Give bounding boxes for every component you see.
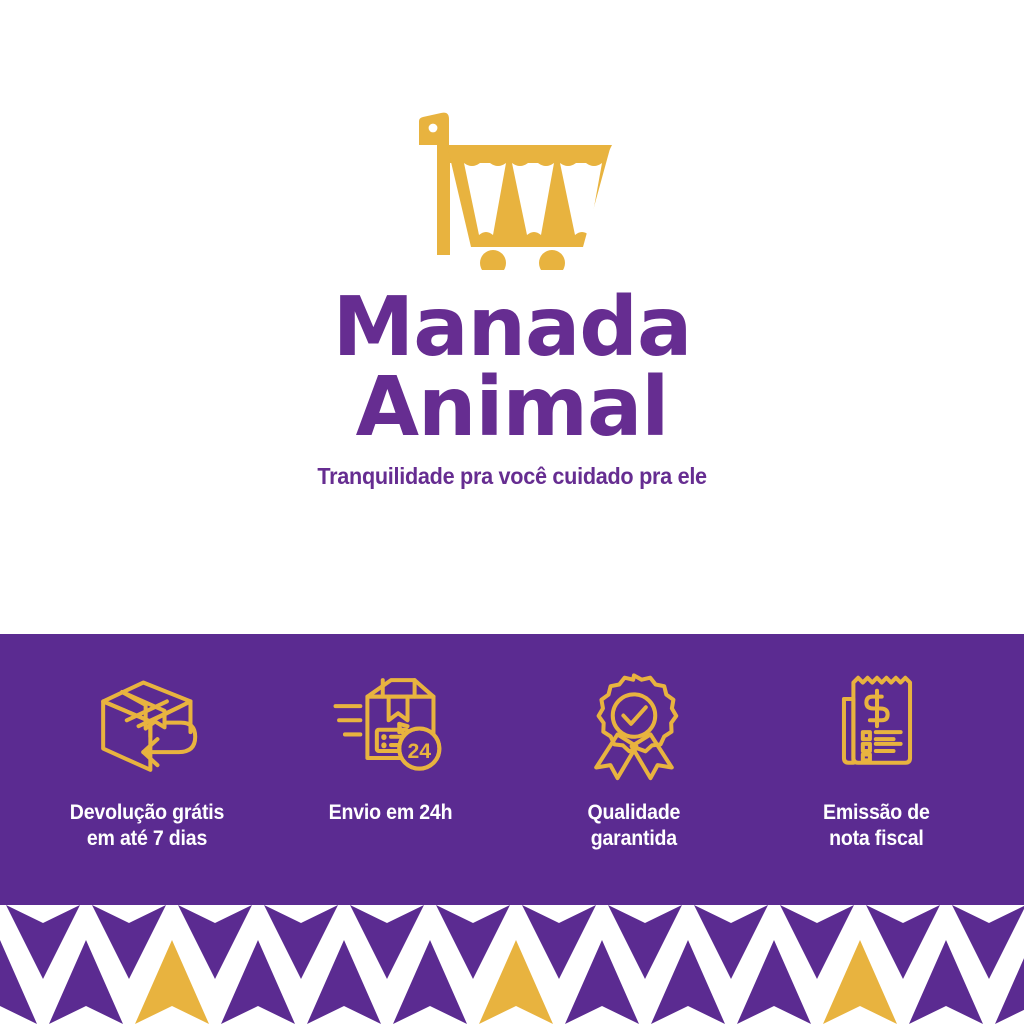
poster-root: Manada Animal Tranquilidade pra você cui… bbox=[0, 0, 1024, 1024]
feature-item-invoice: Emissão de nota fiscal bbox=[755, 666, 998, 851]
feature-item-quality: Qualidade garantida bbox=[512, 666, 755, 851]
feature-label-shipping: Envio em 24h bbox=[329, 800, 453, 826]
brand-name-line2: Animal bbox=[333, 368, 692, 448]
chevron-pattern-footer bbox=[0, 905, 1024, 1024]
brand-name: Manada Animal bbox=[333, 288, 692, 449]
return-box-icon bbox=[89, 666, 207, 784]
shipping-24-badge-text: 24 bbox=[407, 739, 431, 763]
feature-label-quality: Qualidade garantida bbox=[587, 800, 680, 851]
animal-shopping-cart-icon bbox=[407, 105, 617, 270]
brand-tagline: Tranquilidade pra você cuidado pra ele bbox=[317, 463, 706, 490]
brand-section: Manada Animal Tranquilidade pra você cui… bbox=[0, 0, 1024, 634]
feature-item-shipping: 24 Envio em 24h bbox=[269, 666, 512, 826]
feature-item-return: Devolução grátis em até 7 dias bbox=[26, 666, 269, 851]
fast-shipping-24h-icon: 24 bbox=[332, 666, 450, 784]
brand-logo bbox=[407, 105, 617, 270]
feature-label-return: Devolução grátis em até 7 dias bbox=[70, 800, 224, 851]
invoice-receipt-icon bbox=[818, 666, 936, 784]
feature-label-invoice: Emissão de nota fiscal bbox=[823, 800, 930, 851]
features-band: Devolução grátis em até 7 dias bbox=[0, 634, 1024, 905]
quality-badge-check-icon bbox=[575, 666, 693, 784]
chevron-arrow-pattern bbox=[0, 905, 1024, 1024]
